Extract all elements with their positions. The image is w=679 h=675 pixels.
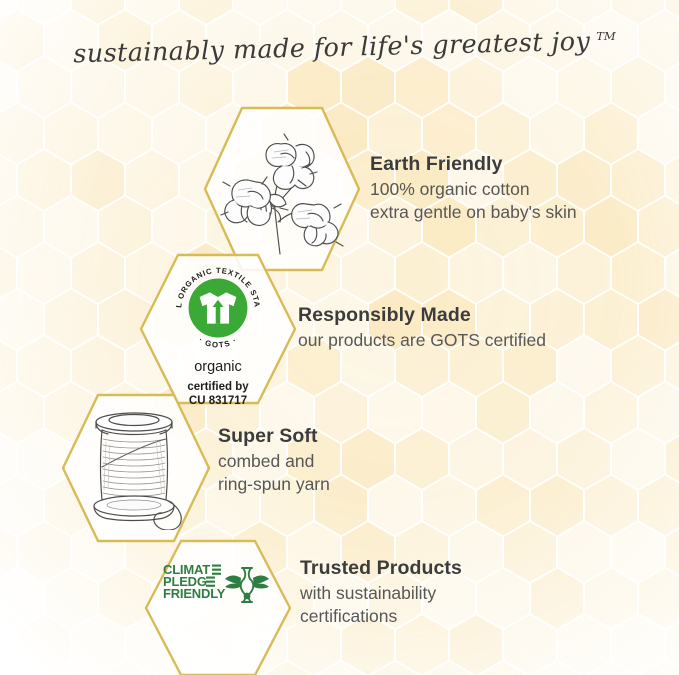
- climate-pledge-friendly-logo: CLIMAT PLEDG FRIENDLY: [163, 560, 275, 610]
- feature-text-super-soft: Super Soft combed and ring-spun yarn: [218, 424, 330, 495]
- feature-line: 100% organic cotton: [370, 178, 577, 201]
- gots-certification-logo: GLOBAL ORGANIC TEXTILE STANDARD · GOTS ·…: [148, 262, 288, 409]
- feature-line: our products are GOTS certified: [298, 329, 546, 352]
- cpf-line-3: FRIENDLY: [163, 586, 226, 601]
- feature-line: with sustainability: [300, 582, 462, 605]
- feature-title: Trusted Products: [300, 556, 462, 581]
- feature-line: ring-spun yarn: [218, 473, 330, 496]
- headline-script-text: sustainably made for life's greatest joy…: [40, 22, 640, 78]
- feature-text-earth-friendly: Earth Friendly 100% organic cotton extra…: [370, 152, 577, 223]
- cotton-plant-sketch-icon: [218, 122, 348, 256]
- gots-seal-icon: GLOBAL ORGANIC TEXTILE STANDARD · GOTS ·: [172, 262, 264, 354]
- gots-license-code: CU 831717: [189, 394, 247, 408]
- feature-text-responsibly-made: Responsibly Made our products are GOTS c…: [298, 303, 546, 352]
- product-feature-infographic: sustainably made for life's greatest joy…: [0, 0, 679, 675]
- gots-ring-text-bottom: · GOTS ·: [197, 335, 239, 349]
- feature-line: extra gentle on baby's skin: [370, 201, 577, 224]
- gots-certified-by-label: certified by: [187, 380, 248, 394]
- feature-title: Super Soft: [218, 424, 330, 449]
- headline-text: sustainably made for life's greatest joy: [72, 27, 590, 70]
- feature-title: Earth Friendly: [370, 152, 577, 177]
- feature-title: Responsibly Made: [298, 303, 546, 328]
- feature-text-trusted-products: Trusted Products with sustainability cer…: [300, 556, 462, 627]
- feature-line: combed and: [218, 450, 330, 473]
- gots-organic-label: organic: [194, 360, 242, 376]
- thread-spool-sketch-icon: [78, 406, 196, 530]
- feature-line: certifications: [300, 605, 462, 628]
- headline-banner: sustainably made for life's greatest joy…: [0, 22, 679, 78]
- winged-hourglass-icon: [225, 568, 269, 602]
- climate-pledge-friendly-mark: CLIMAT PLEDG FRIENDLY: [163, 560, 275, 610]
- trademark-symbol: TM: [596, 29, 617, 43]
